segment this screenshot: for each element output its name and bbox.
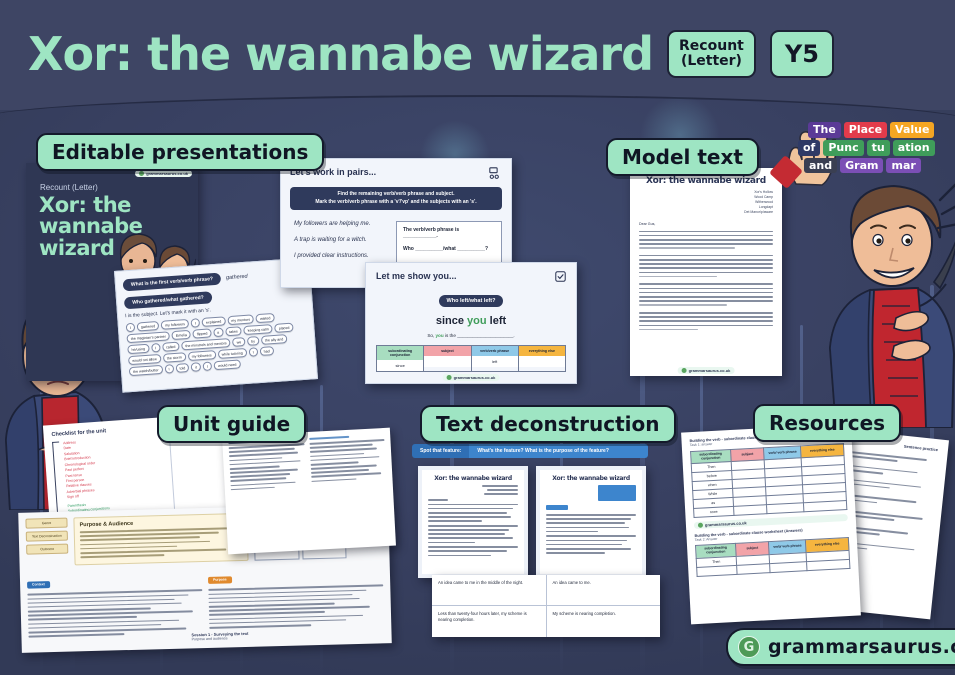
doc-a-title: Xor: the wannabe wizard	[428, 475, 518, 482]
unit-guide-extra-sheet[interactable]	[222, 428, 396, 555]
section-label-purpose: Purpose	[208, 576, 232, 584]
tab-spot-feature[interactable]: Spot that feature:	[412, 444, 469, 458]
grammarsaurus-mark-icon	[698, 523, 703, 528]
pv-word: ation	[893, 140, 935, 156]
practice-sentence: My followers are helping me.	[294, 221, 386, 227]
demo-sentence-table[interactable]: subordinating conjunction since subject …	[376, 345, 566, 372]
word-token[interactable]: the ally and	[261, 334, 288, 345]
text-deconstruction-compare-table[interactable]: An idea came to me in the middle of the …	[432, 575, 660, 637]
demo-question-chip: Who left/what left?	[439, 295, 504, 307]
extra-sheet-column	[228, 438, 306, 493]
pv-word: Punc	[823, 140, 863, 156]
pv-word: The	[808, 122, 841, 138]
word-token[interactable]: had	[259, 346, 274, 356]
example-subject: you	[467, 315, 487, 327]
practice-sentence: A trap is waiting for a witch.	[294, 237, 386, 243]
grammarsaurus-mark-icon	[447, 375, 452, 380]
pairs-instruction-line1: Find the remaining verb/verb phrase and …	[295, 191, 497, 199]
checklist-icon	[555, 271, 566, 282]
note-post: is the ______________________.	[444, 333, 515, 338]
brand-badge-text: grammarsaurus.co.uk	[689, 368, 731, 373]
resources-worksheet-front[interactable]: Building the verb - subordinate clause w…	[681, 424, 861, 625]
column-header: everything else	[519, 346, 565, 356]
section-label-model-text: Model text	[606, 138, 759, 176]
table-column-verb: verb/verb phrase left	[471, 345, 518, 372]
word-token[interactable]: we	[232, 337, 245, 347]
word-token[interactable]: my followers	[161, 319, 190, 330]
column-cell[interactable]: since	[377, 360, 423, 371]
compare-cell-right: My scheme is nearing completion.	[547, 606, 661, 637]
body-paragraph	[639, 255, 773, 278]
brand-badge-text: grammarsaurus.co.uk	[705, 521, 747, 528]
word-token[interactable]: takes	[225, 326, 242, 336]
word-token[interactable]: gathered	[137, 321, 160, 332]
word-token[interactable]: the magician's partner	[126, 331, 170, 343]
pv-logo-row: The Place Value	[808, 122, 935, 138]
pairs-instruction-line2: Mark the verb/verb phrase with a 'v'/'vp…	[295, 199, 497, 207]
doc-a-body	[428, 499, 518, 556]
worksheet1-table[interactable]: subordinating conjunction subject verb/ …	[690, 443, 847, 518]
note-subject: you	[435, 333, 443, 338]
table-column-subordinating: subordinating conjunction since	[376, 345, 423, 372]
tab-feature-purpose[interactable]: What's the feature? What is the purpose …	[469, 444, 648, 458]
word-token[interactable]: I	[248, 347, 258, 357]
section-label-text-deconstruction: Text deconstruction	[420, 405, 676, 443]
doc-a-address	[428, 485, 518, 495]
pv-word: of	[798, 140, 820, 156]
page-header: Xor: the wannabe wizard Recount (Letter)…	[0, 0, 955, 108]
example-pre: since	[436, 315, 467, 327]
page-title: Xor: the wannabe wizard	[28, 27, 653, 81]
word-token[interactable]: waited	[256, 313, 275, 323]
pv-logo-row: of Punc tu ation	[798, 140, 935, 156]
text-deconstruction-doc-a[interactable]: Xor: the wannabe wizard	[418, 466, 528, 578]
column-header: verb/verb phrase	[472, 346, 518, 356]
compare-cell-left: An idea came to me in the middle of the …	[432, 575, 547, 605]
section-label-context: Context	[27, 581, 50, 589]
word-token[interactable]: I	[151, 343, 161, 353]
answer-prompt: Who __________/what __________?	[403, 246, 495, 252]
genre-badge: Recount (Letter)	[667, 30, 756, 77]
word-token[interactable]: keeping calm	[243, 324, 273, 335]
question-chip-2: Who gathered/what gathered?	[124, 291, 212, 309]
model-text-document[interactable]: Xor: the wannabe wizard Xor's Hollow Woo…	[630, 168, 782, 376]
pv-logo-row: and Gram mar	[804, 158, 935, 174]
demo-note: So, you is the ______________________.	[376, 333, 566, 338]
pv-word: tu	[867, 140, 890, 156]
word-token[interactable]: he/using	[127, 344, 149, 354]
purpose-body	[80, 527, 243, 558]
word-token[interactable]: my followers	[187, 350, 216, 361]
title-slide-kicker: Recount (Letter)	[40, 183, 98, 192]
demo-example-sentence: since you left	[376, 315, 566, 327]
body-paragraph	[639, 231, 773, 249]
highlight-block	[546, 505, 568, 510]
practice-sentence: I provided clear instructions.	[294, 253, 386, 259]
tag-genre: Genre	[25, 518, 67, 529]
word-token[interactable]: the watch/butter	[129, 365, 163, 376]
word-token[interactable]: told	[175, 363, 189, 373]
word-token[interactable]: I	[164, 364, 174, 374]
brand-badge: grammarsaurus.co.uk	[678, 367, 735, 374]
genre-badge-line1: Recount	[679, 39, 744, 54]
doc-b-title: Xor: the wannabe wizard	[546, 475, 636, 482]
pv-word: Place	[844, 122, 887, 138]
pair-work-icon	[489, 167, 502, 180]
pv-word: mar	[886, 158, 920, 174]
extra-sheet-column	[309, 434, 387, 489]
place-value-punctuation-grammar-logo: The Place Value of Punc tu ation and Gra…	[798, 122, 935, 175]
compare-cell-right: An idea came to me.	[547, 575, 661, 605]
tag-outcome: Outcome	[26, 544, 68, 555]
grammarsaurus-mark-icon	[682, 368, 687, 373]
word-token[interactable]: the storm	[162, 352, 186, 363]
question-answer-1: gathered	[226, 274, 248, 282]
compare-cell-left: Less than twenty-four hours later, my sc…	[432, 606, 547, 637]
pv-word: Gram	[840, 158, 883, 174]
brand-badge: grammarsaurus.co.uk	[443, 374, 500, 381]
worksheet2-table[interactable]: subordinating conjunction subject verb/ …	[695, 537, 850, 576]
footer-brand-logo[interactable]: G grammarsaurus.co.uk	[726, 628, 955, 666]
word-token[interactable]: while tutoring	[217, 348, 247, 359]
demo-slide-heading: Let me show you...	[376, 271, 457, 281]
word-token[interactable]: it	[213, 328, 223, 338]
brand-badge-text: grammarsaurus.co.uk	[146, 171, 188, 176]
context-body	[27, 589, 203, 637]
body-paragraph	[639, 312, 773, 330]
word-token[interactable]: explained	[202, 316, 226, 327]
word-token[interactable]: I	[126, 323, 136, 333]
column-cell[interactable]: left	[472, 356, 518, 367]
example-post: left	[487, 315, 507, 327]
pv-word: Value	[890, 122, 934, 138]
highlight-block	[598, 485, 636, 501]
column-cell[interactable]	[424, 356, 470, 367]
grammarsaurus-mark-icon	[139, 171, 144, 176]
word-token[interactable]: would need	[214, 359, 241, 370]
grammarsaurus-logo-icon: G	[738, 636, 760, 658]
answer-prompt: The verb/verb phrase is ____________.	[403, 227, 495, 239]
doc-b-body	[546, 514, 636, 554]
word-token[interactable]: it	[191, 362, 201, 372]
tag-text: Text	[32, 534, 38, 538]
column-header: subordinating conjunction	[377, 346, 423, 360]
word-token[interactable]: flipped	[193, 328, 212, 338]
character-xor-right	[808, 178, 955, 428]
salutation: Dear Gus,	[639, 222, 773, 226]
word-token[interactable]: would not allow	[128, 354, 161, 365]
model-text-title: Xor: the wannabe wizard	[639, 176, 773, 186]
address-line: Det Manor/p/aware	[639, 210, 773, 215]
question-chip-1: What is the first verb/verb phrase?	[123, 273, 222, 292]
section-label-editable-presentations: Editable presentations	[36, 133, 324, 171]
body-paragraph	[639, 283, 773, 306]
pairs-instruction-banner: Find the remaining verb/verb phrase and …	[290, 187, 502, 210]
word-token-bank[interactable]: I gathered my followers I explained my m…	[126, 311, 309, 376]
word-token[interactable]: my mentors	[227, 314, 254, 325]
purpose-section-body	[208, 585, 384, 629]
brand-badge-text: grammarsaurus.co.uk	[454, 375, 496, 380]
word-token[interactable]: I	[191, 318, 201, 328]
year-badge: Y5	[770, 30, 834, 78]
word-token[interactable]: placed	[274, 323, 293, 333]
genre-badge-line2: (Letter)	[679, 54, 744, 69]
section-label-unit-guide: Unit guide	[157, 405, 306, 443]
text-deconstruction-doc-b[interactable]: Xor: the wannabe wizard	[536, 466, 646, 578]
text-deconstruction-tabs: Spot that feature: What's the feature? W…	[412, 444, 648, 458]
column-cell[interactable]	[519, 356, 565, 367]
presentation-demo-slide[interactable]: Let me show you... Who left/what left? s…	[365, 262, 577, 384]
table-column-subject: subject	[423, 345, 470, 372]
word-token[interactable]: Emelia	[172, 330, 192, 340]
pv-word: and	[804, 158, 837, 174]
section-label-resources: Resources	[753, 404, 901, 442]
word-token[interactable]: called	[162, 342, 180, 352]
row-value[interactable]: once	[694, 507, 734, 518]
footer-brand-text: grammarsaurus.co.uk	[768, 636, 955, 658]
column-header: subject	[424, 346, 470, 356]
word-token[interactable]: by	[247, 336, 259, 346]
tag-deconstruction: Deconstruction	[39, 534, 62, 539]
table-column-everything-else: everything else	[518, 345, 566, 372]
word-token[interactable]: I	[203, 361, 213, 371]
brand-badge: grammarsaurus.co.uk	[135, 170, 192, 177]
